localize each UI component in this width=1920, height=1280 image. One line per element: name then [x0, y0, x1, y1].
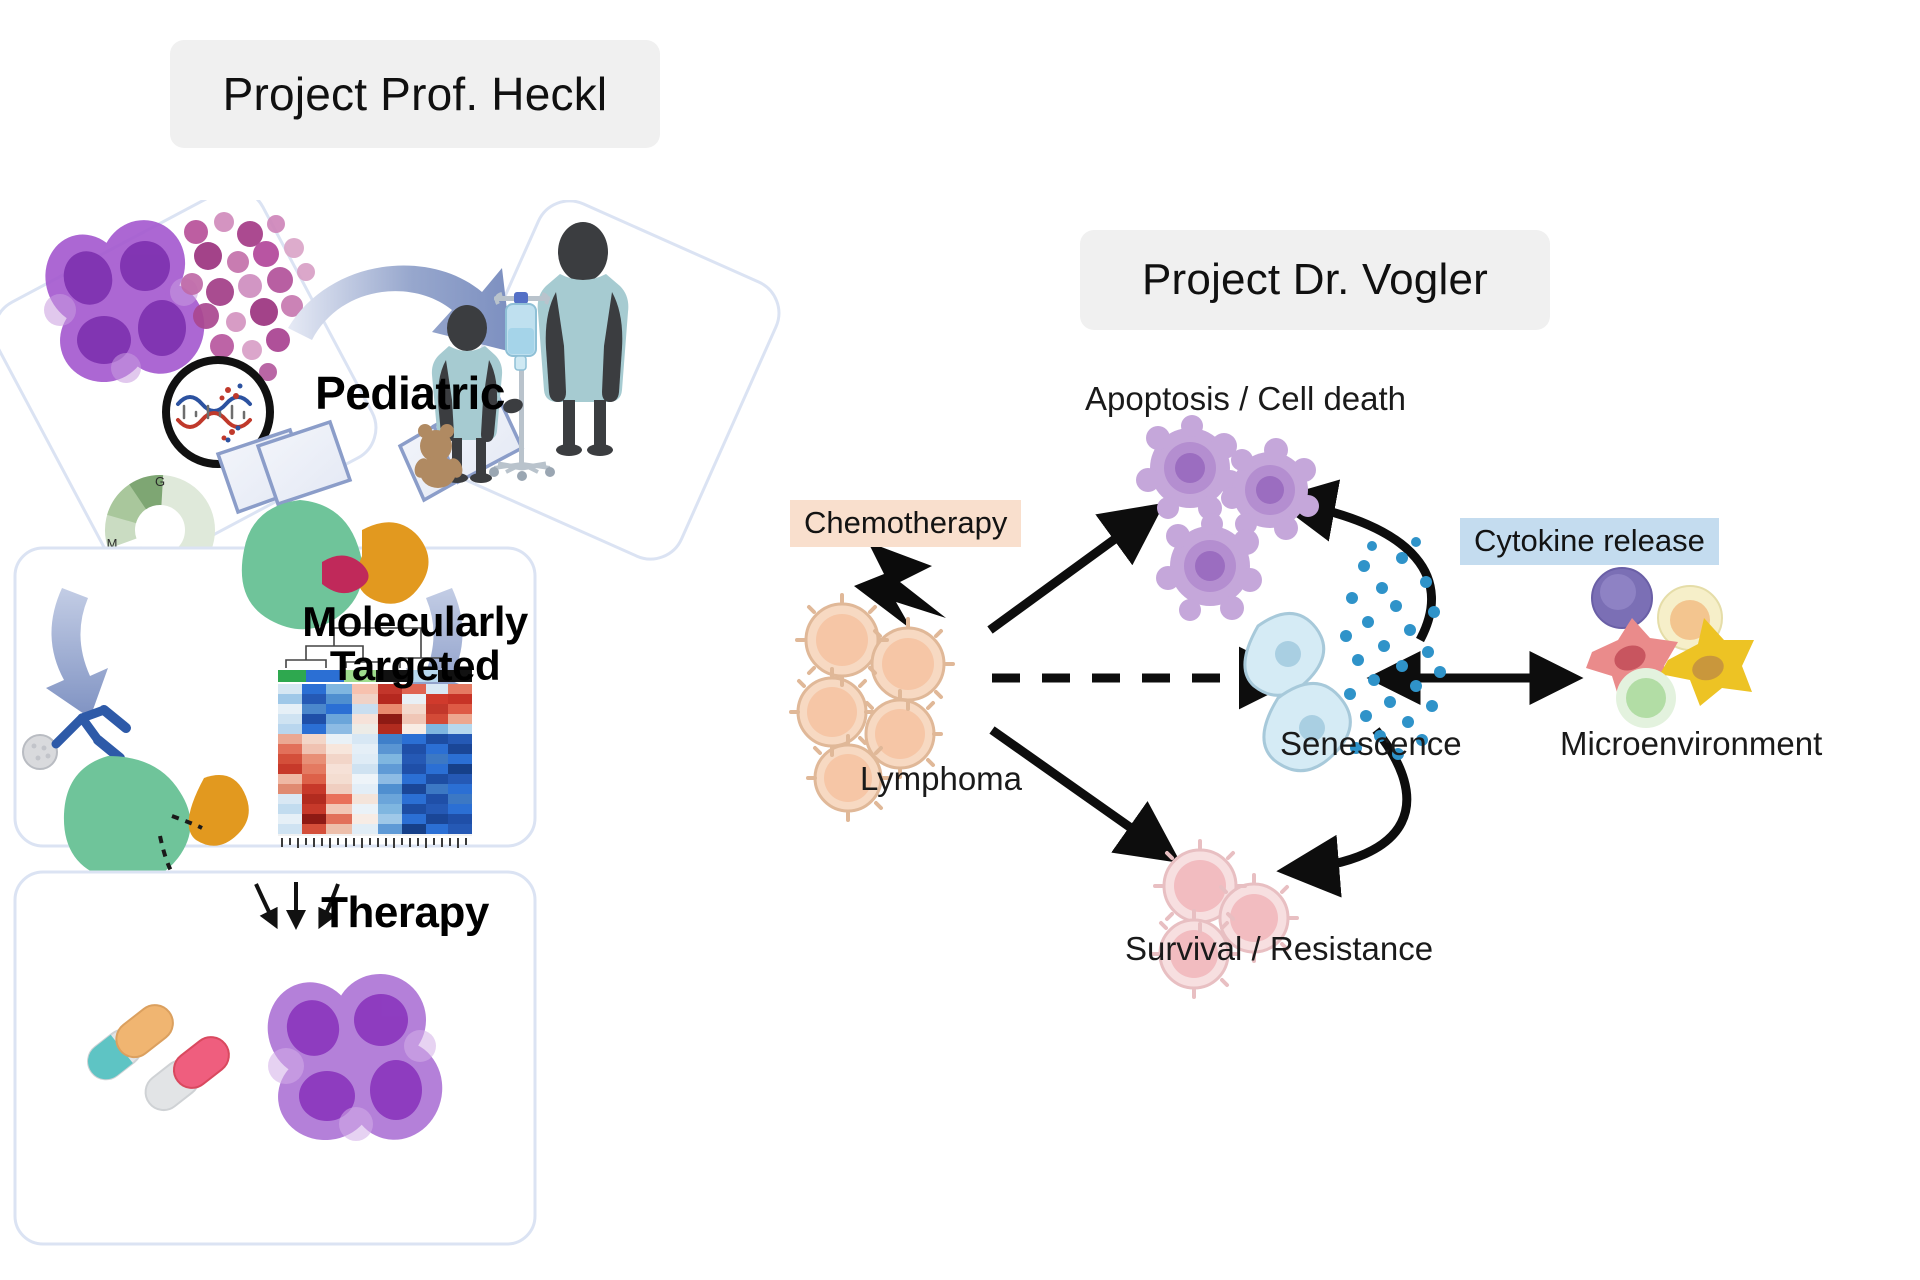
microenvironment-node-label: Microenvironment	[1560, 725, 1822, 763]
cytokine-release-tag: Cytokine release	[1460, 518, 1719, 565]
cellcycle-g-label: G	[155, 474, 165, 489]
project-title-vogler: Project Dr. Vogler	[1080, 230, 1550, 330]
therapy-stage-label: Therapy	[290, 890, 520, 936]
heckl-project-diagram: G S G₁ M	[0, 200, 840, 1270]
heckl-diagram-svg: G S G₁ M	[0, 200, 840, 1270]
lymphoma-node-label: Lymphoma	[860, 760, 1022, 798]
molecularly-targeted-stage-label: Molecularly Targeted	[265, 600, 565, 687]
survival-resistance-node-label: Survival / Resistance	[1125, 930, 1433, 968]
immune-cell-cluster-icon	[1586, 568, 1754, 728]
project-title-heckl: Project Prof. Heckl	[170, 40, 660, 148]
resistant-cell-cluster-icon	[1151, 841, 1297, 997]
molecular-line-2: Targeted	[265, 644, 565, 688]
apoptosis-node-label: Apoptosis / Cell death	[1085, 380, 1406, 418]
apoptotic-cell-cluster-icon	[1136, 415, 1319, 621]
senescence-node-label: Senescence	[1280, 725, 1462, 763]
chemotherapy-tag: Chemotherapy	[790, 500, 1021, 547]
pediatric-stage-label: Pediatric	[290, 370, 530, 418]
slide-canvas: Project Prof. Heckl Project Dr. Vogler	[0, 0, 1920, 1280]
vogler-project-diagram: Chemotherapy Cytokine release Apoptosis …	[780, 330, 1920, 1260]
molecular-line-1: Molecularly	[265, 600, 565, 644]
